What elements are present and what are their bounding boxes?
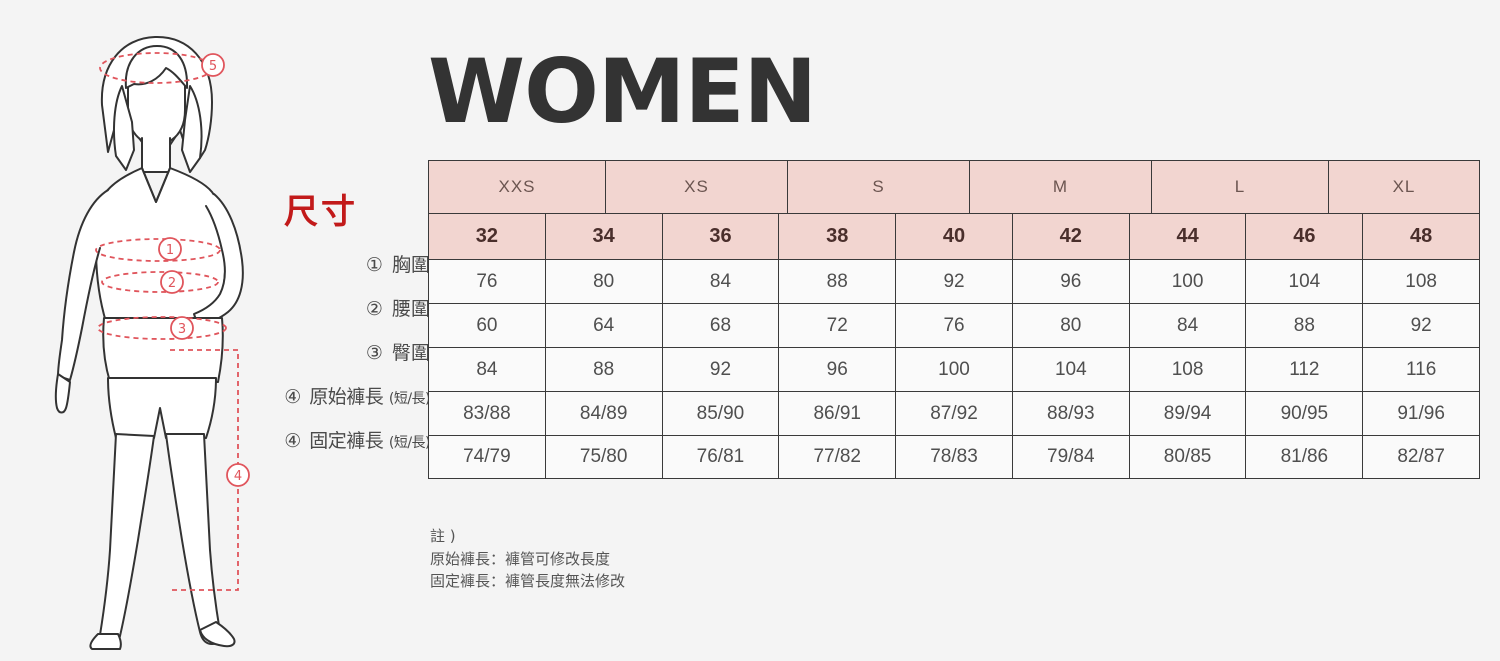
svg-text:5: 5 xyxy=(209,59,217,74)
cell-fixed-34: 75/80 xyxy=(546,436,663,478)
numeric-size-header-row: 32 34 36 38 40 42 44 46 48 xyxy=(428,213,1480,259)
legend-marker-2: ② xyxy=(366,298,383,320)
measurement-legend: 尺寸 ① 胸圍 ② 腰圍 ③ 臀圍 ④ 原始褲長 (短/長) ④ 固定褲長 (短… xyxy=(180,195,430,463)
page-title: WOMEN xyxy=(428,48,816,136)
legend-item-waist: ② 腰圍 xyxy=(180,287,430,331)
numeric-size-46: 46 xyxy=(1246,214,1363,259)
legend-label-hip: 臀圍 xyxy=(392,342,430,364)
cell-waist-34: 64 xyxy=(546,304,663,347)
legend-item-fixed-length: ④ 固定褲長 (短/長) xyxy=(180,419,430,463)
footnote-line-1: 註 ) xyxy=(430,525,625,548)
figure-marker-4: 4 xyxy=(227,464,249,486)
cell-fixed-32: 74/79 xyxy=(429,436,546,478)
size-label-xxs: XXS xyxy=(429,161,606,213)
cell-original-34: 84/89 xyxy=(546,392,663,435)
footnote-line-2: 原始褲長：褲管可修改長度 xyxy=(430,548,625,571)
cell-waist-40: 76 xyxy=(896,304,1013,347)
size-label-xs: XS xyxy=(606,161,788,213)
table-row-waist: 60 64 68 72 76 80 84 88 92 xyxy=(428,303,1480,347)
cell-fixed-46: 81/86 xyxy=(1246,436,1363,478)
table-row-fixed-length: 74/79 75/80 76/81 77/82 78/83 79/84 80/8… xyxy=(428,435,1480,479)
legend-item-hip: ③ 臀圍 xyxy=(180,331,430,375)
numeric-size-38: 38 xyxy=(779,214,896,259)
legend-marker-4-fixed: ④ xyxy=(284,430,301,452)
cell-bust-32: 76 xyxy=(429,260,546,303)
legend-sub-original-length: (短/長) xyxy=(389,391,430,407)
svg-text:2: 2 xyxy=(168,276,176,291)
cell-fixed-40: 78/83 xyxy=(896,436,1013,478)
table-row-original-length: 83/88 84/89 85/90 86/91 87/92 88/93 89/9… xyxy=(428,391,1480,435)
cell-original-36: 85/90 xyxy=(663,392,780,435)
cell-waist-32: 60 xyxy=(429,304,546,347)
legend-label-bust: 胸圍 xyxy=(392,254,430,276)
cell-waist-36: 68 xyxy=(663,304,780,347)
cell-hip-42: 104 xyxy=(1013,348,1130,391)
cell-bust-46: 104 xyxy=(1246,260,1363,303)
legend-title: 尺寸 xyxy=(180,195,430,229)
size-label-xl: XL xyxy=(1329,161,1479,213)
cell-hip-48: 116 xyxy=(1363,348,1479,391)
numeric-size-48: 48 xyxy=(1363,214,1479,259)
cell-fixed-44: 80/85 xyxy=(1130,436,1247,478)
numeric-size-32: 32 xyxy=(429,214,546,259)
footnote-line-3: 固定褲長：褲管長度無法修改 xyxy=(430,570,625,593)
legend-marker-4-original: ④ xyxy=(284,386,301,408)
cell-hip-36: 92 xyxy=(663,348,780,391)
cell-waist-42: 80 xyxy=(1013,304,1130,347)
cell-bust-34: 80 xyxy=(546,260,663,303)
cell-bust-36: 84 xyxy=(663,260,780,303)
cell-original-46: 90/95 xyxy=(1246,392,1363,435)
cell-hip-44: 108 xyxy=(1130,348,1247,391)
cell-bust-42: 96 xyxy=(1013,260,1130,303)
numeric-size-44: 44 xyxy=(1130,214,1247,259)
cell-waist-44: 84 xyxy=(1130,304,1247,347)
cell-original-40: 87/92 xyxy=(896,392,1013,435)
cell-hip-38: 96 xyxy=(779,348,896,391)
numeric-size-40: 40 xyxy=(896,214,1013,259)
cell-hip-32: 84 xyxy=(429,348,546,391)
size-label-header-row: XXS XS S M L XL xyxy=(428,160,1480,213)
numeric-size-36: 36 xyxy=(663,214,780,259)
cell-bust-40: 92 xyxy=(896,260,1013,303)
cell-bust-44: 100 xyxy=(1130,260,1247,303)
cell-original-38: 86/91 xyxy=(779,392,896,435)
cell-original-48: 91/96 xyxy=(1363,392,1479,435)
cell-fixed-48: 82/87 xyxy=(1363,436,1479,478)
cell-original-42: 88/93 xyxy=(1013,392,1130,435)
legend-marker-1: ① xyxy=(366,254,383,276)
cell-fixed-42: 79/84 xyxy=(1013,436,1130,478)
legend-sub-fixed-length: (短/長) xyxy=(389,435,430,451)
legend-item-bust: ① 胸圍 xyxy=(180,243,430,287)
table-row-bust: 76 80 84 88 92 96 100 104 108 xyxy=(428,259,1480,303)
cell-hip-34: 88 xyxy=(546,348,663,391)
cell-hip-46: 112 xyxy=(1246,348,1363,391)
cell-fixed-38: 77/82 xyxy=(779,436,896,478)
size-label-m: M xyxy=(970,161,1152,213)
cell-bust-48: 108 xyxy=(1363,260,1479,303)
table-row-hip: 84 88 92 96 100 104 108 112 116 xyxy=(428,347,1480,391)
svg-text:1: 1 xyxy=(166,243,174,258)
size-label-s: S xyxy=(788,161,970,213)
figure-marker-1: 1 xyxy=(159,238,181,260)
figure-marker-5: 5 xyxy=(202,54,224,76)
legend-item-original-length: ④ 原始褲長 (短/長) xyxy=(180,375,430,419)
cell-waist-48: 92 xyxy=(1363,304,1479,347)
cell-fixed-36: 76/81 xyxy=(663,436,780,478)
footnote-block: 註 ) 原始褲長：褲管可修改長度 固定褲長：褲管長度無法修改 xyxy=(430,525,625,593)
cell-waist-46: 88 xyxy=(1246,304,1363,347)
svg-text:4: 4 xyxy=(234,469,242,484)
cell-original-32: 83/88 xyxy=(429,392,546,435)
cell-hip-40: 100 xyxy=(896,348,1013,391)
legend-label-original-length: 原始褲長 xyxy=(309,386,383,408)
cell-bust-38: 88 xyxy=(779,260,896,303)
legend-label-fixed-length: 固定褲長 xyxy=(309,430,383,452)
cell-original-44: 89/94 xyxy=(1130,392,1247,435)
size-label-l: L xyxy=(1152,161,1329,213)
legend-label-waist: 腰圍 xyxy=(392,298,430,320)
numeric-size-42: 42 xyxy=(1013,214,1130,259)
size-chart-table: XXS XS S M L XL 32 34 36 38 40 42 44 46 … xyxy=(428,160,1480,479)
cell-waist-38: 72 xyxy=(779,304,896,347)
numeric-size-34: 34 xyxy=(546,214,663,259)
legend-marker-3: ③ xyxy=(366,342,383,364)
